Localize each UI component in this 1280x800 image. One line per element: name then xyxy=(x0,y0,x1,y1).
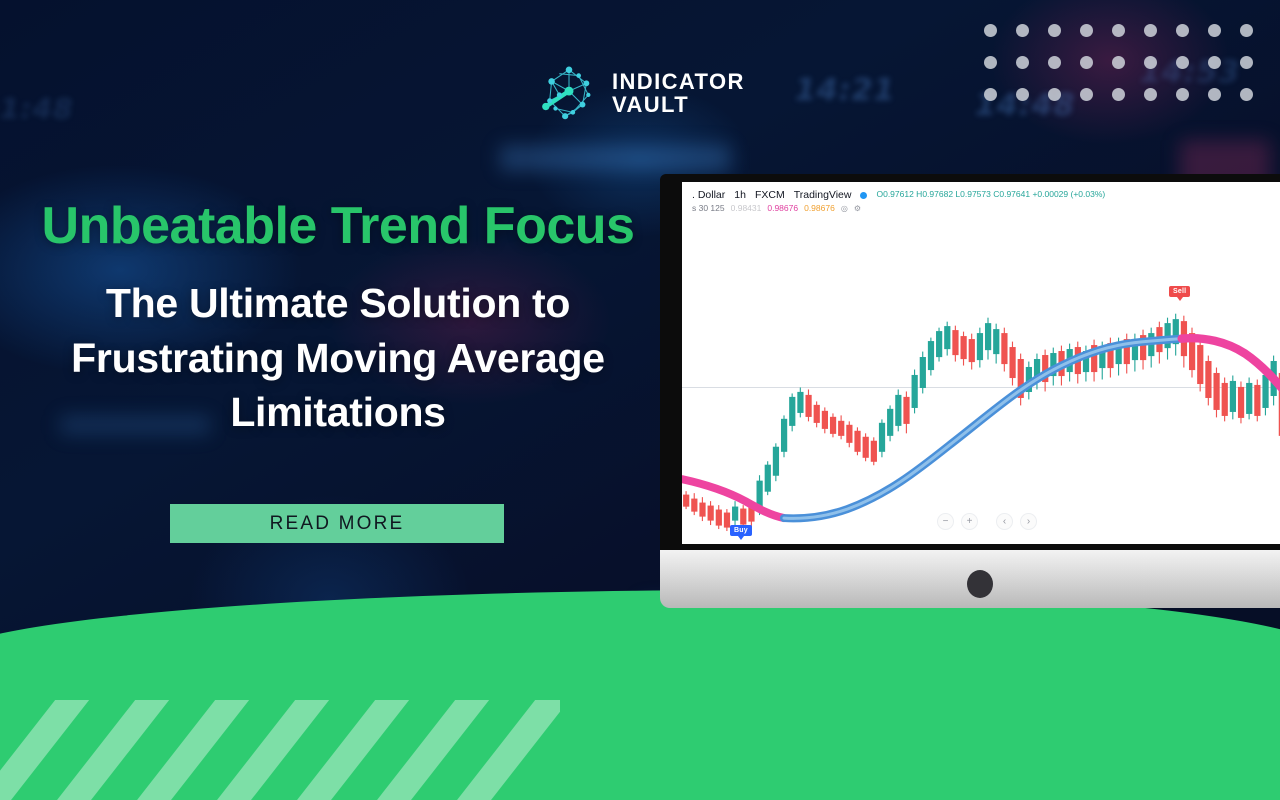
grid-dot xyxy=(1144,88,1157,101)
grid-dot xyxy=(1048,88,1061,101)
brand-name-line1: INDICATOR xyxy=(612,70,745,93)
sell-signal-badge[interactable]: Sell xyxy=(1169,286,1190,297)
chart-exchange: FXCM xyxy=(755,188,785,202)
grid-dot xyxy=(984,88,997,101)
grid-dot xyxy=(1080,56,1093,69)
grid-dot xyxy=(1112,24,1125,37)
grid-dot xyxy=(1112,88,1125,101)
grid-dot xyxy=(1080,88,1093,101)
grid-dot xyxy=(1016,88,1029,101)
background-number: 1:48 xyxy=(0,92,74,125)
grid-dot xyxy=(1240,56,1253,69)
page-title: Unbeatable Trend Focus xyxy=(0,198,676,254)
grid-dot xyxy=(1080,24,1093,37)
grid-dot xyxy=(1176,24,1189,37)
read-more-button[interactable]: READ MORE xyxy=(170,504,504,543)
hero-subtitle: The Ultimate Solution to Frustrating Mov… xyxy=(0,276,676,440)
green-footer-band xyxy=(0,590,1280,800)
monitor-mockup: . Dollar 1h FXCM TradingView O0.97612 H0… xyxy=(660,174,1280,608)
brand-name-line2: VAULT xyxy=(612,93,745,116)
grid-dot xyxy=(984,56,997,69)
grid-dot xyxy=(1112,56,1125,69)
grid-dot xyxy=(1016,24,1029,37)
hero-subtitle-line2: Frustrating Moving Average xyxy=(0,331,676,386)
chart-interval[interactable]: 1h xyxy=(734,188,746,202)
chart-control-group: − + ‹ › xyxy=(937,513,1037,530)
zoom-in-button[interactable]: + xyxy=(961,513,978,530)
zoom-out-button[interactable]: − xyxy=(937,513,954,530)
grid-dot xyxy=(1208,24,1221,37)
background-number: 14:21 xyxy=(795,73,896,108)
hero-subtitle-line3: Limitations xyxy=(0,385,676,440)
monitor-logo-dot-icon xyxy=(967,570,993,598)
diagonal-stripe-pattern xyxy=(0,700,560,800)
background-blur-bar xyxy=(500,145,730,171)
scroll-right-button[interactable]: › xyxy=(1020,513,1037,530)
grid-dot xyxy=(1240,88,1253,101)
hero-subtitle-line1: The Ultimate Solution to xyxy=(0,276,676,331)
trading-chart-screen[interactable]: . Dollar 1h FXCM TradingView O0.97612 H0… xyxy=(682,182,1280,544)
grid-dot xyxy=(1048,56,1061,69)
grid-dot xyxy=(1016,56,1029,69)
chart-symbol[interactable]: . Dollar xyxy=(692,188,725,202)
chart-source: TradingView xyxy=(794,188,852,202)
grid-dot xyxy=(1048,24,1061,37)
brand-name: INDICATOR VAULT xyxy=(612,70,745,117)
grid-dot xyxy=(984,24,997,37)
chart-symbol-row: . Dollar 1h FXCM TradingView O0.97612 H0… xyxy=(692,188,1280,202)
grid-dot xyxy=(1208,88,1221,101)
monitor-bezel-bottom xyxy=(660,550,1280,608)
series-color-dot-icon xyxy=(860,192,867,199)
hero-copy: Unbeatable Trend Focus The Ultimate Solu… xyxy=(0,198,676,440)
grid-dot xyxy=(1176,88,1189,101)
scroll-left-button[interactable]: ‹ xyxy=(996,513,1013,530)
candlestick-chart xyxy=(682,210,1280,544)
network-nodes-icon xyxy=(540,62,598,124)
buy-signal-badge[interactable]: Buy xyxy=(730,525,752,536)
monitor-screen-frame: . Dollar 1h FXCM TradingView O0.97612 H0… xyxy=(660,174,1280,550)
decorative-dot-grid xyxy=(974,14,1262,110)
grid-dot xyxy=(1144,56,1157,69)
grid-dot xyxy=(1208,56,1221,69)
chart-ohlc-values: O0.97612 H0.97682 L0.97573 C0.97641 +0.0… xyxy=(876,189,1105,200)
grid-dot xyxy=(1144,24,1157,37)
grid-dot xyxy=(1240,24,1253,37)
grid-dot xyxy=(1176,56,1189,69)
brand-logo[interactable]: INDICATOR VAULT xyxy=(540,62,745,124)
chart-plot-area[interactable]: Buy Sell − + ‹ › xyxy=(682,210,1280,544)
